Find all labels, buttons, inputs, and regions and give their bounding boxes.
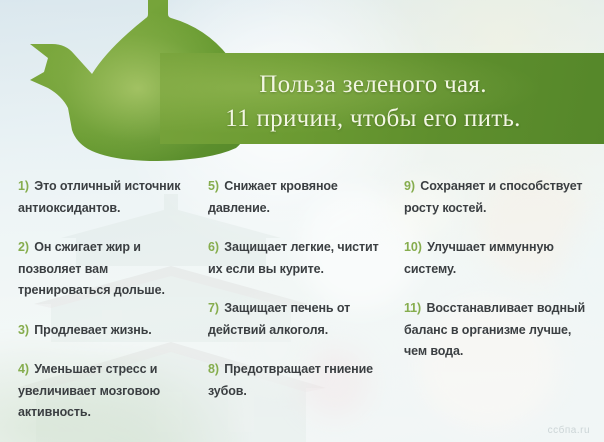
list-item: 9) Сохраняет и способствует росту костей… (404, 176, 594, 219)
list-item-text: Восстанавливает водный баланс в организм… (404, 301, 585, 358)
list-item-number: 5) (208, 179, 219, 193)
list-item: 1) Это отличный источник антиоксидантов. (18, 176, 188, 219)
title-line-1: Польза зеленого чая. (259, 68, 487, 102)
list-item-number: 6) (208, 240, 219, 254)
list-item-text: Защищает печень от действий алкоголя. (208, 301, 350, 337)
list-item-text: Снижает кровяное давление. (208, 179, 338, 215)
title-line-2: 11 причин, чтобы его пить. (225, 102, 520, 136)
benefits-column-3: 9) Сохраняет и способствует росту костей… (398, 176, 604, 424)
list-item-text: Предотвращает гниение зубов. (208, 362, 373, 398)
list-item: 2) Он сжигает жир и позволяет вам тренир… (18, 237, 188, 302)
list-item-number: 2) (18, 240, 29, 254)
list-item-number: 1) (18, 179, 29, 193)
list-item-text: Он сжигает жир и позволяет вам тренирова… (18, 240, 165, 297)
list-item-number: 3) (18, 323, 29, 337)
benefits-column-1: 1) Это отличный источник антиоксидантов.… (0, 176, 196, 424)
list-item: 11) Восстанавливает водный баланс в орга… (404, 298, 594, 363)
list-item-text: Это отличный источник антиоксидантов. (18, 179, 180, 215)
list-item: 8) Предотвращает гниение зубов. (208, 359, 390, 402)
list-item: 6) Защищает легкие, чистит их если вы ку… (208, 237, 390, 280)
list-item-number: 10) (404, 240, 422, 254)
list-item-number: 7) (208, 301, 219, 315)
list-item-number: 8) (208, 362, 219, 376)
list-item-number: 4) (18, 362, 29, 376)
list-item: 5) Снижает кровяное давление. (208, 176, 390, 219)
list-item-text: Уменьшает стресс и увеличивает мозговою … (18, 362, 160, 419)
list-item: 4) Уменьшает стресс и увеличивает мозгов… (18, 359, 188, 424)
watermark: ссбпа.ru (548, 425, 590, 436)
list-item-number: 9) (404, 179, 415, 193)
benefits-columns: 1) Это отличный источник антиоксидантов.… (0, 176, 604, 424)
poster: Польза зеленого чая. 11 причин, чтобы ег… (0, 0, 604, 442)
list-item-text: Продлевает жизнь. (34, 323, 151, 337)
list-item-text: Сохраняет и способствует росту костей. (404, 179, 582, 215)
list-item-number: 11) (404, 301, 421, 315)
title-banner: Польза зеленого чая. 11 причин, чтобы ег… (160, 53, 604, 144)
list-item-text: Защищает легкие, чистит их если вы курит… (208, 240, 379, 276)
list-item-text: Улучшает иммунную систему. (404, 240, 554, 276)
benefits-column-2: 5) Снижает кровяное давление. 6) Защищае… (196, 176, 398, 424)
list-item: 10) Улучшает иммунную систему. (404, 237, 594, 280)
list-item: 3) Продлевает жизнь. (18, 320, 188, 342)
list-item: 7) Защищает печень от действий алкоголя. (208, 298, 390, 341)
